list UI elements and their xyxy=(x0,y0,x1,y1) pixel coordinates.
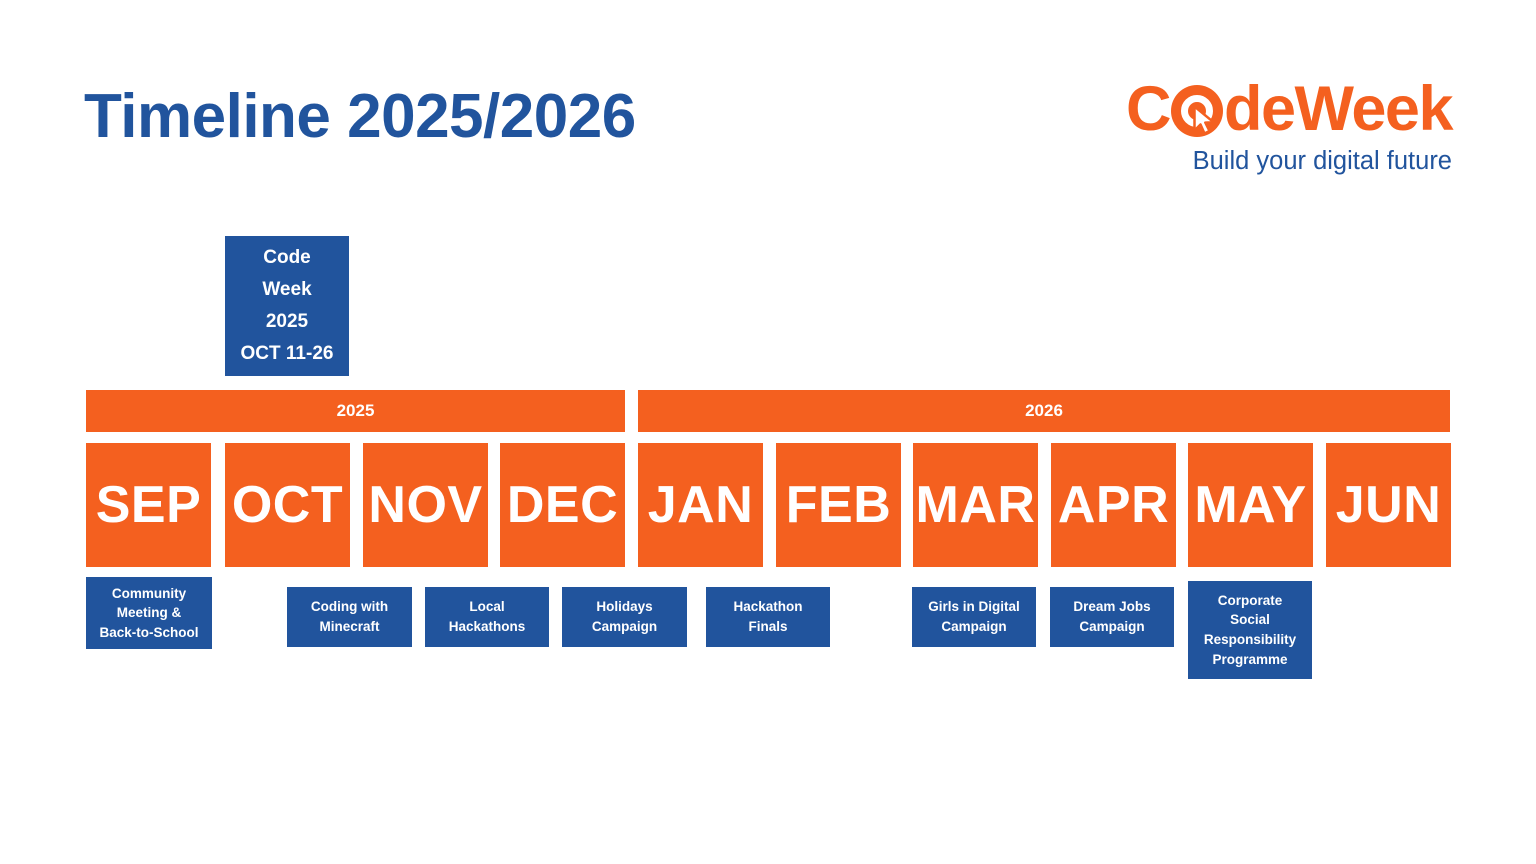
month-label: APR xyxy=(1058,475,1169,535)
event-label-line-1: Minecraft xyxy=(319,617,379,637)
month-label: MAR xyxy=(916,475,1036,535)
code-week-badge-line-2: 2025 xyxy=(266,306,308,338)
event-label-line-0: Coding with xyxy=(311,597,388,617)
month-label: OCT xyxy=(232,475,343,535)
event-box-sep[interactable]: CommunityMeeting &Back-to-School xyxy=(86,577,212,649)
month-cell-oct[interactable]: OCT xyxy=(225,443,350,567)
event-box-dec[interactable]: HolidaysCampaign xyxy=(562,587,687,647)
event-label-line-1: Campaign xyxy=(1079,617,1144,637)
year-bar-2025: 2025 xyxy=(86,390,625,432)
event-label-line-0: Holidays xyxy=(596,597,652,617)
month-label: JUN xyxy=(1336,475,1442,535)
logo-o-cursor-icon xyxy=(1171,85,1223,137)
year-bar-2025-label: 2025 xyxy=(337,401,375,421)
event-label-line-0: Community xyxy=(112,584,186,604)
event-label-line-0: Girls in Digital xyxy=(928,597,1020,617)
year-bar-2026-label: 2026 xyxy=(1025,401,1063,421)
months-row: SEPOCTNOVDECJANFEBMARAPRMAYJUN xyxy=(86,443,1450,567)
month-cell-feb[interactable]: FEB xyxy=(776,443,901,567)
event-box-apr[interactable]: Dream JobsCampaign xyxy=(1050,587,1174,647)
event-label-line-1: Finals xyxy=(748,617,787,637)
page-title: Timeline 2025/2026 xyxy=(84,86,636,148)
event-label-line-2: Back-to-School xyxy=(99,623,198,643)
event-label-line-1: Social xyxy=(1230,610,1270,630)
event-label-line-0: Corporate xyxy=(1218,591,1283,611)
month-cell-sep[interactable]: SEP xyxy=(86,443,211,567)
code-week-badge-line-3: OCT 11-26 xyxy=(241,338,334,370)
event-label-line-1: Campaign xyxy=(592,617,657,637)
month-cell-dec[interactable]: DEC xyxy=(500,443,625,567)
event-label-line-2: Responsibility xyxy=(1204,630,1296,650)
event-label-line-0: Local xyxy=(469,597,504,617)
logo-word-pre: C xyxy=(1126,78,1170,141)
month-label: SEP xyxy=(96,475,202,535)
event-label-line-0: Hackathon xyxy=(733,597,802,617)
year-bar-2026: 2026 xyxy=(638,390,1450,432)
event-box-nov[interactable]: LocalHackathons xyxy=(425,587,549,647)
event-label-line-1: Campaign xyxy=(941,617,1006,637)
event-box-jan[interactable]: HackathonFinals xyxy=(706,587,830,647)
month-label: MAY xyxy=(1194,475,1306,535)
month-label: NOV xyxy=(368,475,482,535)
month-label: JAN xyxy=(648,475,754,535)
month-cell-jun[interactable]: JUN xyxy=(1326,443,1451,567)
month-cell-nov[interactable]: NOV xyxy=(363,443,488,567)
event-label-line-3: Programme xyxy=(1212,650,1287,670)
month-cell-may[interactable]: MAY xyxy=(1188,443,1313,567)
event-label-line-1: Meeting & xyxy=(117,603,182,623)
logo-wordmark: CdeWeek xyxy=(1126,78,1452,141)
event-box-oct[interactable]: Coding withMinecraft xyxy=(287,587,412,647)
logo-word-post: deWeek xyxy=(1224,78,1452,141)
code-week-badge-line-1: Week xyxy=(262,274,311,306)
month-cell-apr[interactable]: APR xyxy=(1051,443,1176,567)
timeline-infographic: Timeline 2025/2026 CdeWeek Build your di… xyxy=(0,0,1536,864)
month-label: FEB xyxy=(786,475,892,535)
month-cell-mar[interactable]: MAR xyxy=(913,443,1038,567)
codeweek-logo: CdeWeek Build your digital future xyxy=(1006,78,1452,176)
month-cell-jan[interactable]: JAN xyxy=(638,443,763,567)
code-week-highlight-badge[interactable]: CodeWeek2025OCT 11-26 xyxy=(225,236,349,376)
logo-tagline: Build your digital future xyxy=(1006,147,1452,176)
event-box-may[interactable]: CorporateSocialResponsibilityProgramme xyxy=(1188,581,1312,679)
event-label-line-1: Hackathons xyxy=(449,617,526,637)
event-label-line-0: Dream Jobs xyxy=(1073,597,1150,617)
code-week-badge-line-0: Code xyxy=(263,242,311,274)
month-label: DEC xyxy=(507,475,618,535)
event-box-mar[interactable]: Girls in DigitalCampaign xyxy=(912,587,1036,647)
